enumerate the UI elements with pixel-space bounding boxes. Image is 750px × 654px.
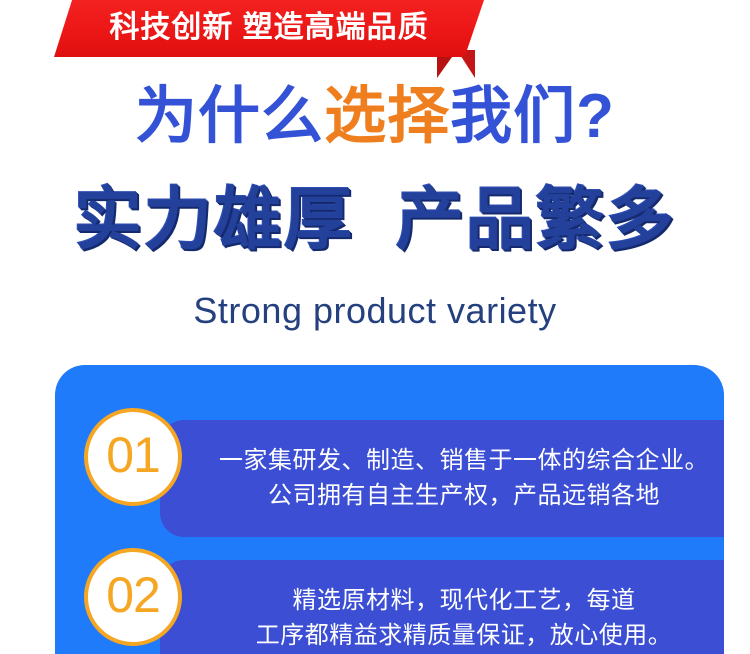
feature-line-1: 一家集研发、制造、销售于一体的综合企业。 [219,444,709,478]
subheadline-left: 实力雄厚 [74,182,354,258]
features-panel: 一家集研发、制造、销售于一体的综合企业。 公司拥有自主生产权，产品远销各地 01… [55,365,724,654]
feature-line-2: 工序都精益求精质量保证，放心使用。 [256,619,673,653]
subheadline-right: 产品繁多 [396,182,676,258]
feature-item-01: 一家集研发、制造、销售于一体的综合企业。 公司拥有自主生产权，产品远销各地 01 [55,420,724,537]
feature-number-label: 01 [106,430,160,484]
feature-number-label: 02 [106,570,160,624]
headline-segment-2: 选择 [324,82,450,151]
feature-line-2: 公司拥有自主生产权，产品远销各地 [268,479,660,513]
secondary-headline: 实力雄厚产品繁多 [0,186,750,254]
feature-item-02: 精选原材料，现代化工艺，每道 工序都精益求精质量保证，放心使用。 02 [55,560,724,654]
main-headline: 为什么选择我们? [0,86,750,148]
ribbon-banner: 科技创新 塑造高端品质 [0,0,750,82]
english-tagline: Strong product variety [0,291,750,331]
feature-text-pill-02: 精选原材料，现代化工艺，每道 工序都精益求精质量保证，放心使用。 [160,560,724,654]
feature-number-badge-01: 01 [84,408,182,506]
feature-number-badge-02: 02 [84,548,182,646]
ribbon-slogan-text: 科技创新 塑造高端品质 [54,0,484,57]
promo-banner-page: 科技创新 塑造高端品质 为什么选择我们? 实力雄厚产品繁多 Strong pro… [0,0,750,654]
feature-text-pill-01: 一家集研发、制造、销售于一体的综合企业。 公司拥有自主生产权，产品远销各地 [160,420,724,537]
headline-segment-3: 我们? [450,82,615,151]
headline-segment-1: 为什么 [135,82,324,151]
feature-line-1: 精选原材料，现代化工艺，每道 [293,584,636,618]
